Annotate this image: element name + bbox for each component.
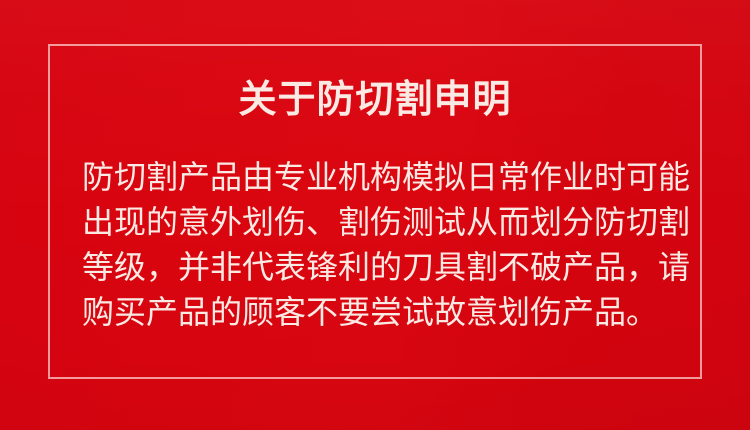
disclaimer-line-2: 出现的意外划伤、割伤测试从而划分防切割: [82, 200, 682, 245]
page-title: 关于防切割申明: [48, 78, 702, 122]
disclaimer-line-3: 等级，并非代表锋利的刀具割不破产品，请: [82, 245, 682, 290]
disclaimer-poster: 关于防切割申明 防切割产品由专业机构模拟日常作业时可能 出现的意外划伤、割伤测试…: [0, 0, 750, 430]
disclaimer-line-1: 防切割产品由专业机构模拟日常作业时可能: [82, 155, 682, 200]
disclaimer-line-4: 购买产品的顾客不要尝试故意划伤产品。: [82, 290, 682, 335]
disclaimer-body: 防切割产品由专业机构模拟日常作业时可能 出现的意外划伤、割伤测试从而划分防切割 …: [82, 155, 682, 335]
